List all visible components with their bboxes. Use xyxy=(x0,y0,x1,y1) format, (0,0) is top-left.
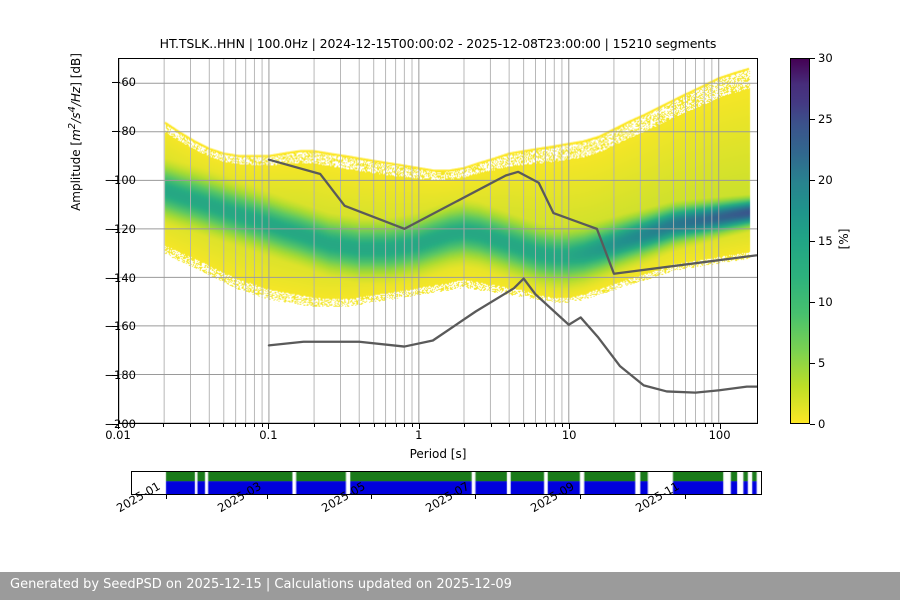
timeline-tick-mark xyxy=(580,495,581,499)
x-axis-label: Period [s] xyxy=(118,447,758,461)
x-tick-mark xyxy=(209,424,210,427)
colorbar-tick-mark xyxy=(810,180,815,181)
x-tick-mark xyxy=(223,424,224,427)
colorbar-tick-label: 0 xyxy=(818,417,825,431)
colorbar-tick-mark xyxy=(810,241,815,242)
x-tick-mark xyxy=(713,424,714,427)
x-tick-mark xyxy=(385,424,386,427)
y-tick-label: −80 xyxy=(76,124,136,138)
timeline-tick-mark xyxy=(475,495,476,499)
x-tick-mark xyxy=(404,424,405,427)
x-tick-mark xyxy=(359,424,360,427)
psd-figure: HT.TSLK..HHN | 100.0Hz | 2024-12-15T00:0… xyxy=(0,0,900,600)
x-tick-mark xyxy=(524,424,525,427)
x-tick-mark xyxy=(509,424,510,427)
x-tick-label: 100 xyxy=(709,428,731,442)
x-tick-mark xyxy=(686,424,687,427)
y-tick-label: −100 xyxy=(76,173,136,187)
y-tick-label: −140 xyxy=(76,271,136,285)
y-tick-label: −180 xyxy=(76,368,136,382)
timeline-tick-mark xyxy=(166,495,167,499)
psd-plot-area[interactable] xyxy=(118,58,758,424)
x-tick-mark xyxy=(254,424,255,427)
x-tick-mark xyxy=(491,424,492,427)
x-tick-mark xyxy=(705,424,706,427)
colorbar-tick-mark xyxy=(810,119,815,120)
y-tick-label: −160 xyxy=(76,319,136,333)
colorbar-tick-label: 5 xyxy=(818,356,825,370)
y-tick-label: −120 xyxy=(76,222,136,236)
colorbar-tick-mark xyxy=(810,424,815,425)
timeline-tick-mark xyxy=(371,495,372,499)
colorbar-tick-label: 15 xyxy=(818,234,833,248)
colorbar-gradient xyxy=(790,58,810,424)
colorbar-tick-label: 20 xyxy=(818,173,833,187)
x-tick-mark xyxy=(615,424,616,427)
colorbar-label: [%] xyxy=(837,219,851,259)
noise-model-curves xyxy=(119,59,757,423)
x-tick-mark xyxy=(163,424,164,427)
footer-text: Generated by SeedPSD on 2025-12-15 | Cal… xyxy=(10,577,512,592)
x-tick-mark xyxy=(190,424,191,427)
x-tick-mark xyxy=(340,424,341,427)
timeline-tick-mark xyxy=(267,495,268,499)
x-tick-mark xyxy=(546,424,547,427)
y-tick-label: −60 xyxy=(76,75,136,89)
x-tick-label: 10 xyxy=(562,428,577,442)
colorbar-tick-mark xyxy=(810,302,815,303)
colorbar-tick-label: 25 xyxy=(818,112,833,126)
x-tick-mark xyxy=(696,424,697,427)
x-tick-label: 1 xyxy=(415,428,422,442)
x-tick-mark xyxy=(660,424,661,427)
x-tick-label: 0.01 xyxy=(105,428,131,442)
x-tick-mark xyxy=(555,424,556,427)
x-tick-mark xyxy=(245,424,246,427)
x-tick-mark xyxy=(396,424,397,427)
colorbar-tick-mark xyxy=(810,363,815,364)
colorbar-tick-label: 10 xyxy=(818,295,833,309)
colorbar-tick-mark xyxy=(810,58,815,59)
x-tick-mark xyxy=(464,424,465,427)
x-tick-mark xyxy=(536,424,537,427)
page-title: HT.TSLK..HHN | 100.0Hz | 2024-12-15T00:0… xyxy=(118,36,758,51)
timeline-tick-mark xyxy=(685,495,686,499)
x-tick-mark xyxy=(374,424,375,427)
colorbar-tick-label: 30 xyxy=(818,51,833,65)
x-tick-mark xyxy=(235,424,236,427)
x-tick-label: 0.1 xyxy=(259,428,277,442)
x-tick-mark xyxy=(412,424,413,427)
x-tick-mark xyxy=(641,424,642,427)
x-tick-mark xyxy=(674,424,675,427)
x-tick-mark xyxy=(314,424,315,427)
x-tick-mark xyxy=(262,424,263,427)
x-tick-mark xyxy=(562,424,563,427)
